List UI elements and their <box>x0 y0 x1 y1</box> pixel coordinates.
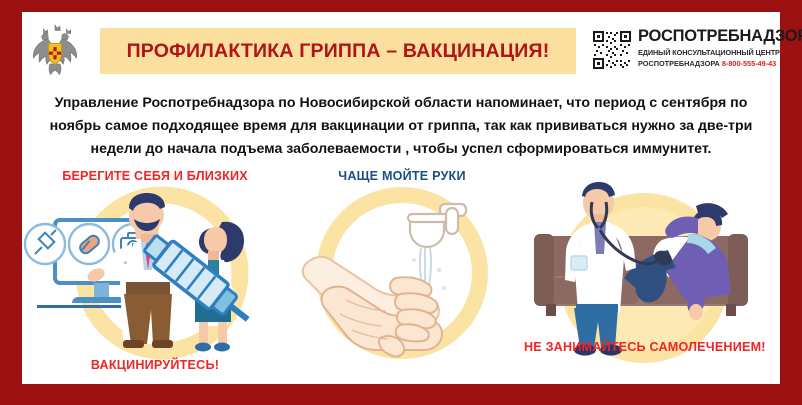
agency-center-line2-row: РОСПОТРЕБНАДЗОРА 8-800-555-49-43 <box>638 59 776 68</box>
panel-vaccination-caption-bottom: ВАКЦИНИРУЙТЕСЬ! <box>22 358 288 372</box>
page-title: ПРОФИЛАКТИКА ГРИППА – ВАКЦИНАЦИЯ! <box>127 40 550 63</box>
agency-center-line1: ЕДИНЫЙ КОНСУЛЬТАЦИОННЫЙ ЦЕНТР <box>638 48 780 57</box>
agency-hotline-phone: 8-800-555-49-43 <box>722 59 776 68</box>
hands-washing-illustration <box>290 178 514 368</box>
agency-name: РОСПОТРЕБНАДЗОР <box>638 27 802 46</box>
doctor-nurse-syringe-illustration <box>22 178 288 368</box>
front-hand <box>322 277 442 356</box>
rospotrebnadzor-eagle-emblem-icon <box>24 22 86 84</box>
illustration-panels: БЕРЕГИТЕ СЕБЯ И БЛИЗКИХ <box>22 162 780 384</box>
poster-title-band: ПРОФИЛАКТИКА ГРИППА – ВАКЦИНАЦИЯ! <box>100 28 576 74</box>
flu-prevention-poster: ПРОФИЛАКТИКА ГРИППА – ВАКЦИНАЦИЯ! <box>0 0 802 405</box>
panel-no-self-medication: НЕ ЗАНИМАЙТЕСЬ САМОЛЕЧЕНИЕМ! <box>516 162 780 384</box>
agency-branding-block: РОСПОТРЕБНАДЗОР ЕДИНЫЙ КОНСУЛЬТАЦИОННЫЙ … <box>592 27 778 77</box>
lead-paragraph: Управление Роспотребнадзора по Новосибир… <box>28 92 774 161</box>
panel-hand-washing: ЧАЩЕ МОЙТЕ РУКИ <box>290 162 514 384</box>
agency-center-line2: РОСПОТРЕБНАДЗОРА <box>638 59 720 68</box>
panel-no-self-medication-caption: НЕ ЗАНИМАЙТЕСЬ САМОЛЕЧЕНИЕМ! <box>516 340 780 354</box>
qr-code-icon <box>592 30 632 70</box>
poster-sheet: ПРОФИЛАКТИКА ГРИППА – ВАКЦИНАЦИЯ! <box>22 12 780 384</box>
panel-vaccination: БЕРЕГИТЕ СЕБЯ И БЛИЗКИХ <box>22 162 288 384</box>
poster-header: ПРОФИЛАКТИКА ГРИППА – ВАКЦИНАЦИЯ! <box>22 12 780 90</box>
